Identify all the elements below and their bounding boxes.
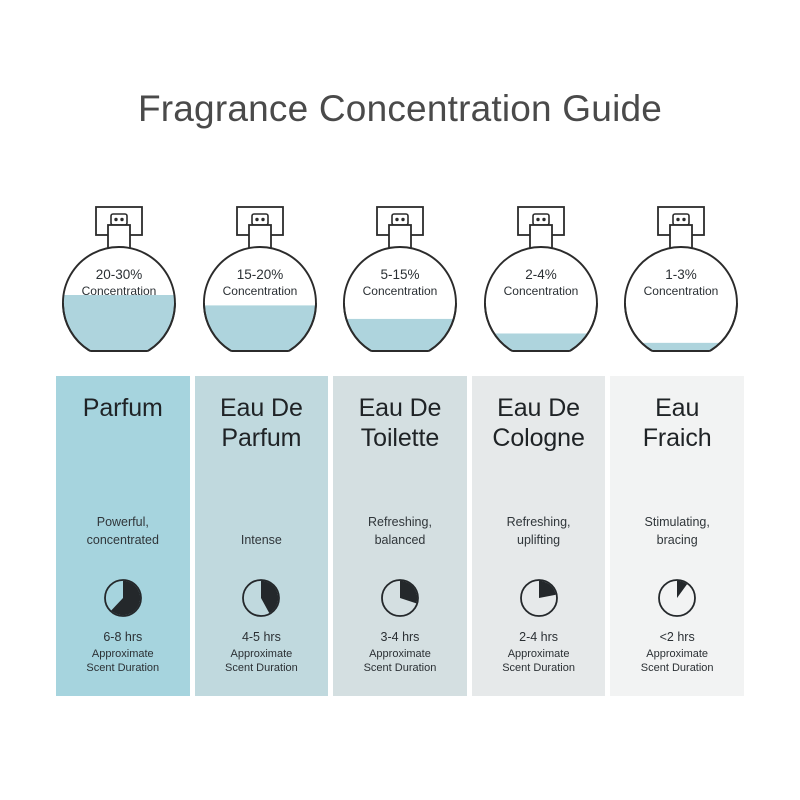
cap-dot-left-icon [395, 218, 398, 221]
fragrance-card[interactable]: Eau De Toilette Refreshing, balanced 3-4… [333, 376, 467, 696]
card-hours: 6-8 hrs [103, 629, 142, 646]
bottle-row: 20-30% Concentration [56, 198, 744, 366]
card-hours: 3-4 hrs [381, 629, 420, 646]
clock-icon [102, 577, 144, 619]
card-description: Refreshing, uplifting [507, 513, 571, 549]
cap-nozzle-icon [111, 214, 127, 225]
cap-nozzle-icon [533, 214, 549, 225]
cap-dot-right-icon [120, 218, 123, 221]
bottle-concentration-value: 15-20% [236, 267, 283, 282]
bottle-body [197, 247, 323, 366]
bottle-body [478, 247, 604, 366]
cap-nozzle-icon [392, 214, 408, 225]
eau-de-cologne-bottle: 2-4% Concentration [478, 198, 604, 366]
cap-nozzle-icon [673, 214, 689, 225]
bottle-concentration-label: Concentration [222, 284, 297, 298]
bottle-body [56, 247, 182, 366]
card-hours: <2 hrs [660, 629, 695, 646]
cap-dot-left-icon [536, 218, 539, 221]
clock-icon [240, 577, 282, 619]
card-title: Eau Fraich [643, 394, 712, 454]
infographic-page: Fragrance Concentration Guide [0, 0, 800, 800]
card-title: Eau De Toilette [359, 394, 442, 454]
card-duration-label: Approximate Scent Duration [364, 647, 437, 696]
card-duration-label: Approximate Scent Duration [225, 647, 298, 696]
parfum-bottle: 20-30% Concentration [56, 198, 182, 366]
bottle-body [618, 247, 744, 366]
card-row: Parfum Powerful, concentrated 6-8 hrs Ap… [56, 376, 744, 696]
card-description: Intense [241, 531, 282, 549]
card-title: Eau De Parfum [220, 394, 303, 454]
clock-icon [656, 577, 698, 619]
eau-de-parfum-bottle: 15-20% Concentration [197, 198, 323, 366]
cap-dot-right-icon [401, 218, 404, 221]
eau-fraich-bottle-shape: 1-3% Concentration [618, 198, 744, 366]
fragrance-card[interactable]: Eau Fraich Stimulating, bracing <2 hrs A… [610, 376, 744, 696]
clock-icon [379, 577, 421, 619]
eau-fraich-bottle: 1-3% Concentration [618, 198, 744, 366]
page-title: Fragrance Concentration Guide [0, 88, 800, 130]
eau-de-cologne-bottle-shape: 2-4% Concentration [478, 198, 604, 366]
card-hours: 4-5 hrs [242, 629, 281, 646]
card-description: Refreshing, balanced [368, 513, 432, 549]
card-hours: 2-4 hrs [519, 629, 558, 646]
cap-dot-left-icon [255, 218, 258, 221]
card-duration-label: Approximate Scent Duration [502, 647, 575, 696]
bottle-concentration-label: Concentration [503, 284, 578, 298]
fragrance-card[interactable]: Parfum Powerful, concentrated 6-8 hrs Ap… [56, 376, 190, 696]
cap-dot-right-icon [682, 218, 685, 221]
card-title: Parfum [83, 394, 163, 454]
bottle-concentration-value: 1-3% [665, 267, 697, 282]
eau-de-parfum-bottle-shape: 15-20% Concentration [197, 198, 323, 366]
card-description: Stimulating, bracing [645, 513, 710, 549]
eau-de-toilette-bottle-shape: 5-15% Concentration [337, 198, 463, 366]
bottle-concentration-value: 5-15% [380, 267, 419, 282]
card-description: Powerful, concentrated [87, 513, 159, 549]
bottle-body [337, 247, 463, 366]
cap-dot-right-icon [261, 218, 264, 221]
bottle-concentration-label: Concentration [644, 284, 719, 298]
fragrance-card[interactable]: Eau De Parfum Intense 4-5 hrs Approximat… [195, 376, 329, 696]
bottle-concentration-label: Concentration [363, 284, 438, 298]
card-duration-label: Approximate Scent Duration [641, 647, 714, 696]
parfum-bottle-shape: 20-30% Concentration [56, 198, 182, 366]
card-title: Eau De Cologne [492, 394, 584, 454]
eau-de-toilette-bottle: 5-15% Concentration [337, 198, 463, 366]
clock-icon [518, 577, 560, 619]
cap-dot-left-icon [676, 218, 679, 221]
fragrance-card[interactable]: Eau De Cologne Refreshing, uplifting 2-4… [472, 376, 606, 696]
bottle-concentration-value: 2-4% [525, 267, 557, 282]
cap-dot-right-icon [542, 218, 545, 221]
card-duration-label: Approximate Scent Duration [86, 647, 159, 696]
cap-dot-left-icon [114, 218, 117, 221]
cap-nozzle-icon [252, 214, 268, 225]
bottle-concentration-label: Concentration [82, 284, 157, 298]
bottle-concentration-value: 20-30% [96, 267, 143, 282]
